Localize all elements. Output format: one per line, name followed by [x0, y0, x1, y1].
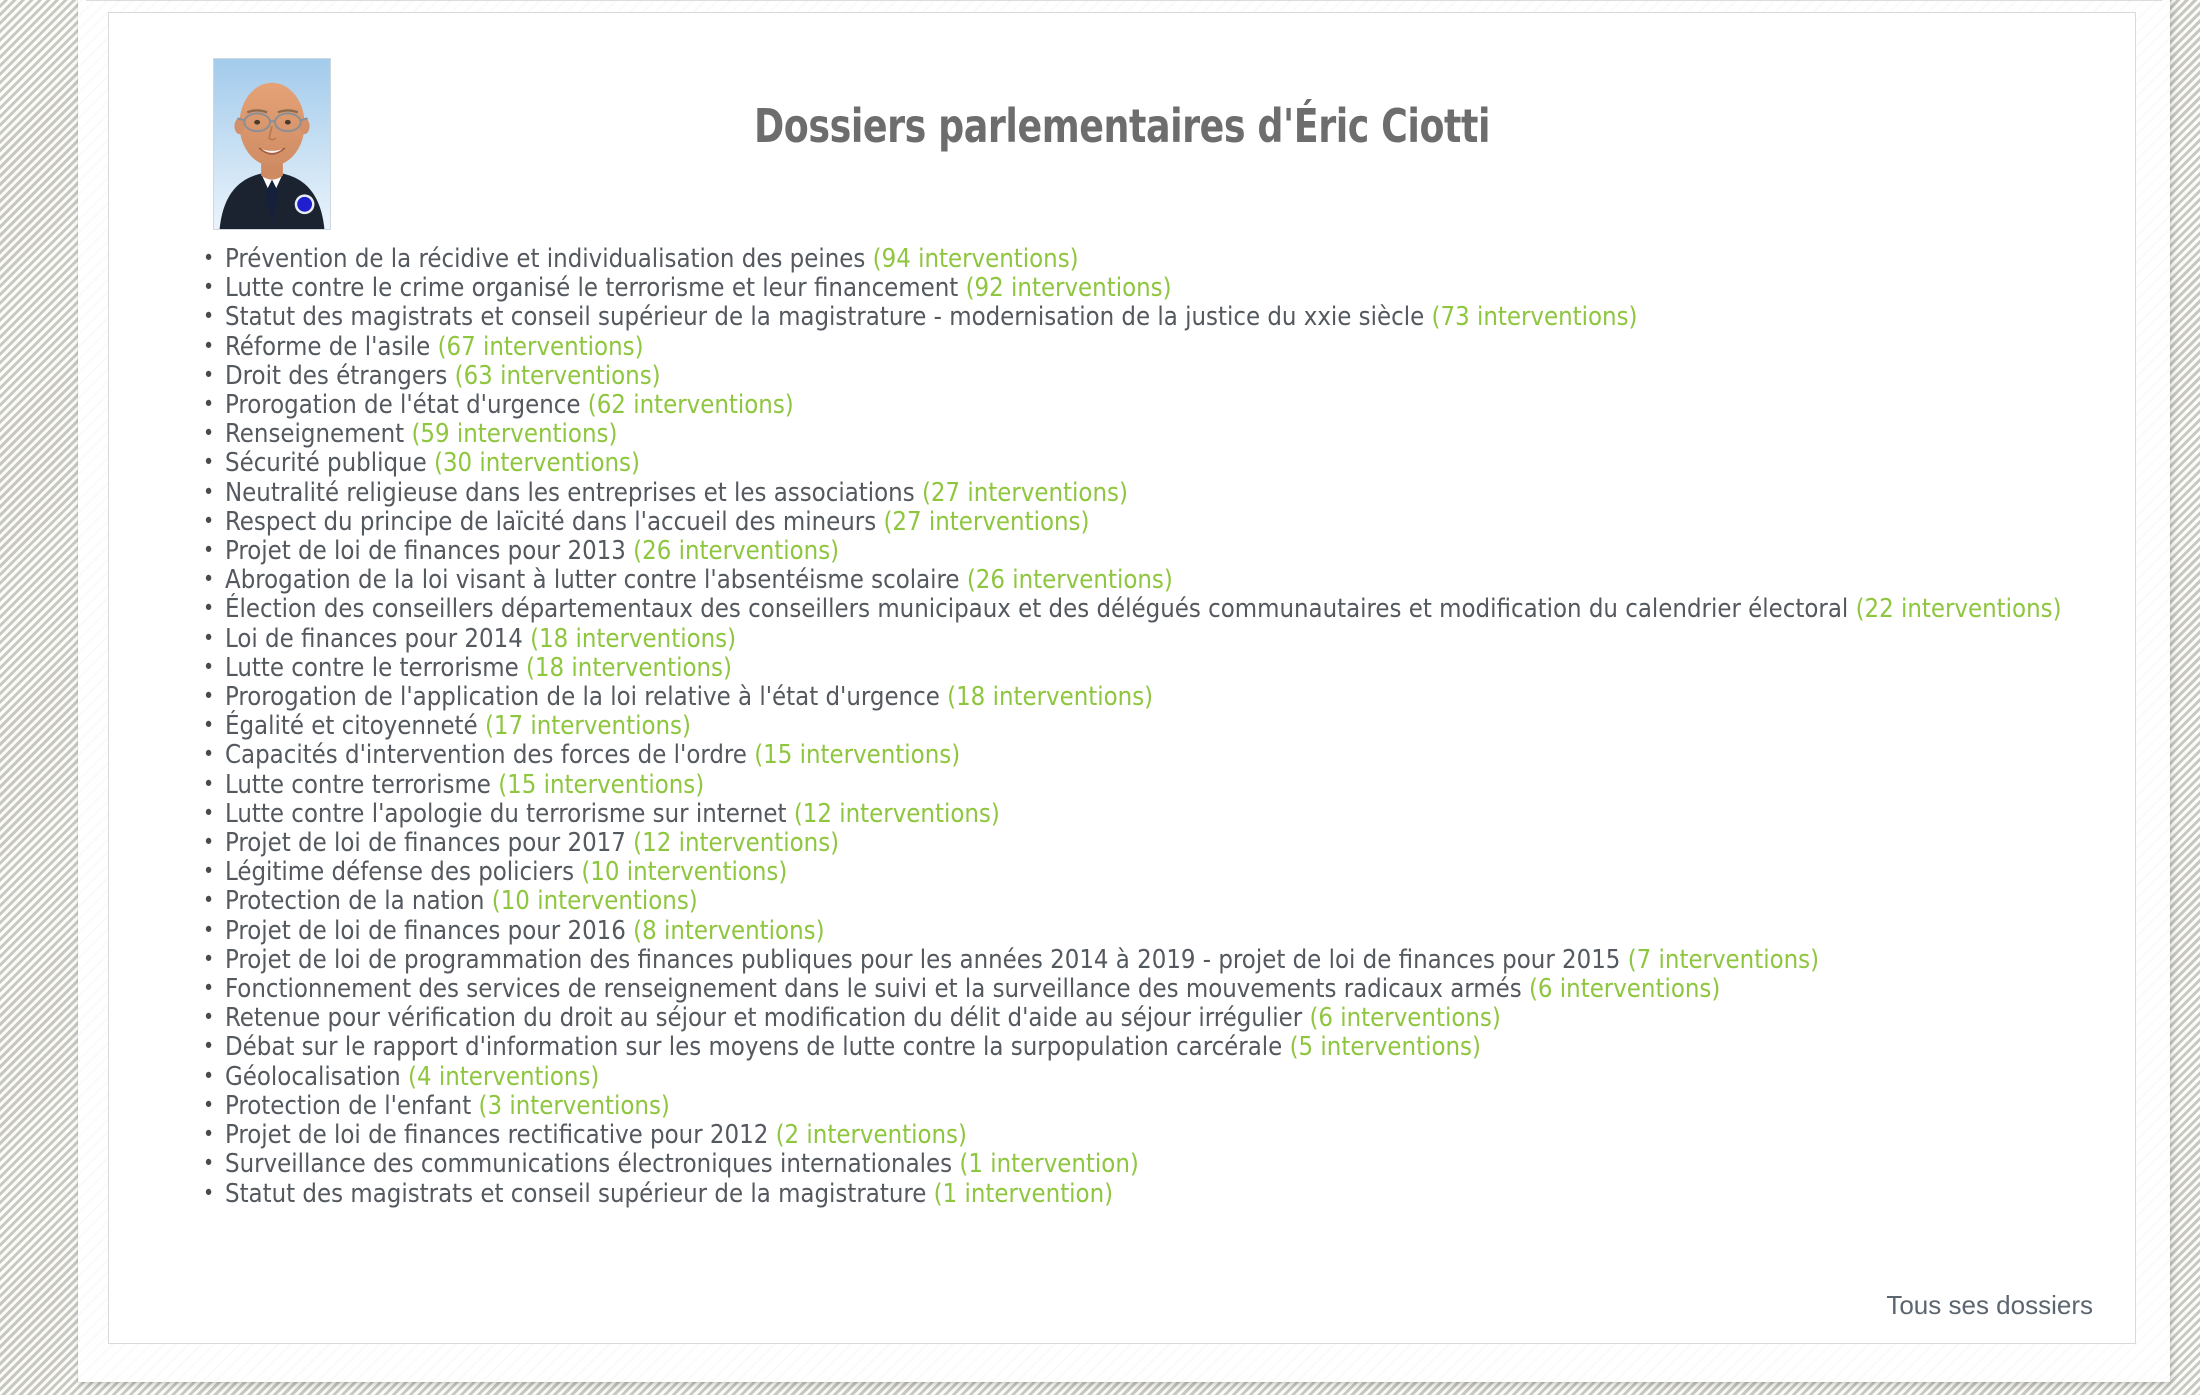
dossier-item[interactable]: Élection des conseillers départementaux … [201, 595, 2095, 624]
dossier-label: Renseignement [225, 419, 404, 449]
dossier-intervention-count: (4 interventions) [408, 1062, 599, 1092]
dossier-label: Égalité et citoyenneté [225, 711, 478, 741]
dossier-item[interactable]: Égalité et citoyenneté (17 interventions… [201, 712, 2095, 741]
dossier-label: Surveillance des communications électron… [225, 1149, 952, 1179]
dossier-intervention-count: (2 interventions) [776, 1120, 967, 1150]
dossier-intervention-count: (92 interventions) [966, 273, 1172, 303]
dossier-intervention-count: (26 interventions) [967, 565, 1173, 595]
dossier-item[interactable]: Projet de loi de finances rectificative … [201, 1121, 2095, 1150]
dossier-item[interactable]: Lutte contre le crime organisé le terror… [201, 274, 2095, 303]
dossier-label: Neutralité religieuse dans les entrepris… [225, 478, 915, 508]
dossier-list: Prévention de la récidive et individuali… [109, 245, 2135, 1208]
dossier-intervention-count: (6 interventions) [1309, 1003, 1500, 1033]
dossier-label: Protection de l'enfant [225, 1091, 471, 1121]
dossier-label: Géolocalisation [225, 1062, 401, 1092]
dossier-label: Droit des étrangers [225, 361, 447, 391]
dossier-item[interactable]: Lutte contre l'apologie du terrorisme su… [201, 800, 2095, 829]
dossier-intervention-count: (15 interventions) [498, 770, 704, 800]
dossier-label: Projet de loi de finances pour 2016 [225, 916, 626, 946]
dossier-label: Projet de loi de finances pour 2013 [225, 536, 626, 566]
dossier-intervention-count: (27 interventions) [883, 507, 1089, 537]
dossier-label: Fonctionnement des services de renseigne… [225, 974, 1522, 1004]
dossier-intervention-count: (27 interventions) [922, 478, 1128, 508]
dossier-label: Lutte contre terrorisme [225, 770, 491, 800]
dossier-intervention-count: (15 interventions) [754, 740, 960, 770]
dossier-item[interactable]: Respect du principe de laïcité dans l'ac… [201, 508, 2095, 537]
dossier-intervention-count: (63 interventions) [455, 361, 661, 391]
dossier-item[interactable]: Droit des étrangers (63 interventions) [201, 362, 2095, 391]
dossier-item[interactable]: Protection de la nation (10 intervention… [201, 887, 2095, 916]
dossier-item[interactable]: Neutralité religieuse dans les entrepris… [201, 479, 2095, 508]
dossier-intervention-count: (12 interventions) [794, 799, 1000, 829]
dossier-intervention-count: (3 interventions) [479, 1091, 670, 1121]
dossier-intervention-count: (18 interventions) [947, 682, 1153, 712]
dossier-label: Loi de finances pour 2014 [225, 624, 523, 654]
dossier-item[interactable]: Débat sur le rapport d'information sur l… [201, 1033, 2095, 1062]
dossier-item[interactable]: Protection de l'enfant (3 interventions) [201, 1092, 2095, 1121]
dossier-intervention-count: (59 interventions) [411, 419, 617, 449]
dossier-intervention-count: (30 interventions) [434, 448, 640, 478]
dossier-label: Lutte contre le terrorisme [225, 653, 519, 683]
dossier-intervention-count: (18 interventions) [530, 624, 736, 654]
dossier-item[interactable]: Projet de loi de finances pour 2016 (8 i… [201, 917, 2095, 946]
page-title: Dossiers parlementaires d'Éric Ciotti [231, 99, 2014, 153]
dossier-item[interactable]: Loi de finances pour 2014 (18 interventi… [201, 625, 2095, 654]
dossier-intervention-count: (17 interventions) [485, 711, 691, 741]
all-dossiers-link[interactable]: Tous ses dossiers [1886, 1290, 2093, 1320]
dossier-label: Lutte contre le crime organisé le terror… [225, 273, 958, 303]
dossier-item[interactable]: Retenue pour vérification du droit au sé… [201, 1004, 2095, 1033]
dossier-item[interactable]: Légitime défense des policiers (10 inter… [201, 858, 2095, 887]
dossier-item[interactable]: Géolocalisation (4 interventions) [201, 1063, 2095, 1092]
dossier-item[interactable]: Projet de loi de programmation des finan… [201, 946, 2095, 975]
dossier-label: Capacités d'intervention des forces de l… [225, 740, 747, 770]
dossier-item[interactable]: Fonctionnement des services de renseigne… [201, 975, 2095, 1004]
dossier-label: Lutte contre l'apologie du terrorisme su… [225, 799, 787, 829]
dossier-label: Respect du principe de laïcité dans l'ac… [225, 507, 876, 537]
dossier-item[interactable]: Réforme de l'asile (67 interventions) [201, 333, 2095, 362]
card-header: Dossiers parlementaires d'Éric Ciotti [109, 13, 2135, 245]
dossier-label: Légitime défense des policiers [225, 857, 574, 887]
dossier-intervention-count: (94 interventions) [873, 244, 1079, 274]
dossier-item[interactable]: Projet de loi de finances pour 2013 (26 … [201, 537, 2095, 566]
dossier-intervention-count: (10 interventions) [492, 886, 698, 916]
dossier-intervention-count: (62 interventions) [588, 390, 794, 420]
dossier-label: Sécurité publique [225, 448, 427, 478]
dossier-intervention-count: (12 interventions) [633, 828, 839, 858]
dossier-item[interactable]: Abrogation de la loi visant à lutter con… [201, 566, 2095, 595]
dossier-intervention-count: (26 interventions) [633, 536, 839, 566]
dossier-label: Retenue pour vérification du droit au sé… [225, 1003, 1302, 1033]
dossier-label: Prévention de la récidive et individuali… [225, 244, 865, 274]
dossier-intervention-count: (22 interventions) [1856, 594, 2062, 624]
dossier-label: Réforme de l'asile [225, 332, 430, 362]
dossier-intervention-count: (1 intervention) [959, 1149, 1138, 1179]
dossier-item[interactable]: Lutte contre le terrorisme (18 intervent… [201, 654, 2095, 683]
dossier-item[interactable]: Sécurité publique (30 interventions) [201, 449, 2095, 478]
dossier-label: Élection des conseillers départementaux … [225, 594, 1848, 624]
dossier-label: Prorogation de l'état d'urgence [225, 390, 580, 420]
card-footer: Tous ses dossiers [1886, 1290, 2093, 1321]
dossier-item[interactable]: Renseignement (59 interventions) [201, 420, 2095, 449]
dossier-label: Abrogation de la loi visant à lutter con… [225, 565, 960, 595]
dossier-item[interactable]: Capacités d'intervention des forces de l… [201, 741, 2095, 770]
dossier-intervention-count: (8 interventions) [633, 916, 824, 946]
dossier-label: Projet de loi de finances pour 2017 [225, 828, 626, 858]
dossier-label: Statut des magistrats et conseil supérie… [225, 302, 1424, 332]
dossier-item[interactable]: Prorogation de l'état d'urgence (62 inte… [201, 391, 2095, 420]
dossiers-card: Dossiers parlementaires d'Éric Ciotti Pr… [108, 12, 2136, 1344]
dossier-item[interactable]: Lutte contre terrorisme (15 intervention… [201, 771, 2095, 800]
dossier-label: Projet de loi de programmation des finan… [225, 945, 1620, 975]
dossier-intervention-count: (7 interventions) [1628, 945, 1819, 975]
dossier-label: Projet de loi de finances rectificative … [225, 1120, 768, 1150]
dossier-intervention-count: (18 interventions) [526, 653, 732, 683]
dossier-intervention-count: (1 intervention) [934, 1179, 1113, 1209]
dossier-label: Prorogation de l'application de la loi r… [225, 682, 940, 712]
dossier-item[interactable]: Projet de loi de finances pour 2017 (12 … [201, 829, 2095, 858]
dossier-intervention-count: (5 interventions) [1290, 1032, 1481, 1062]
dossier-intervention-count: (67 interventions) [438, 332, 644, 362]
dossier-intervention-count: (6 interventions) [1529, 974, 1720, 1004]
dossier-label: Protection de la nation [225, 886, 484, 916]
dossier-label: Statut des magistrats et conseil supérie… [225, 1179, 926, 1209]
dossier-item[interactable]: Prévention de la récidive et individuali… [201, 245, 2095, 274]
dossier-intervention-count: (10 interventions) [581, 857, 787, 887]
dossier-item[interactable]: Statut des magistrats et conseil supérie… [201, 1180, 2095, 1209]
top-divider [86, 0, 2162, 1]
dossier-item[interactable]: Prorogation de l'application de la loi r… [201, 683, 2095, 712]
page-sheet: Dossiers parlementaires d'Éric Ciotti Pr… [78, 0, 2170, 1382]
dossier-label: Débat sur le rapport d'information sur l… [225, 1032, 1282, 1062]
dossier-item[interactable]: Surveillance des communications électron… [201, 1150, 2095, 1179]
dossier-item[interactable]: Statut des magistrats et conseil supérie… [201, 303, 2095, 332]
dossier-intervention-count: (73 interventions) [1432, 302, 1638, 332]
